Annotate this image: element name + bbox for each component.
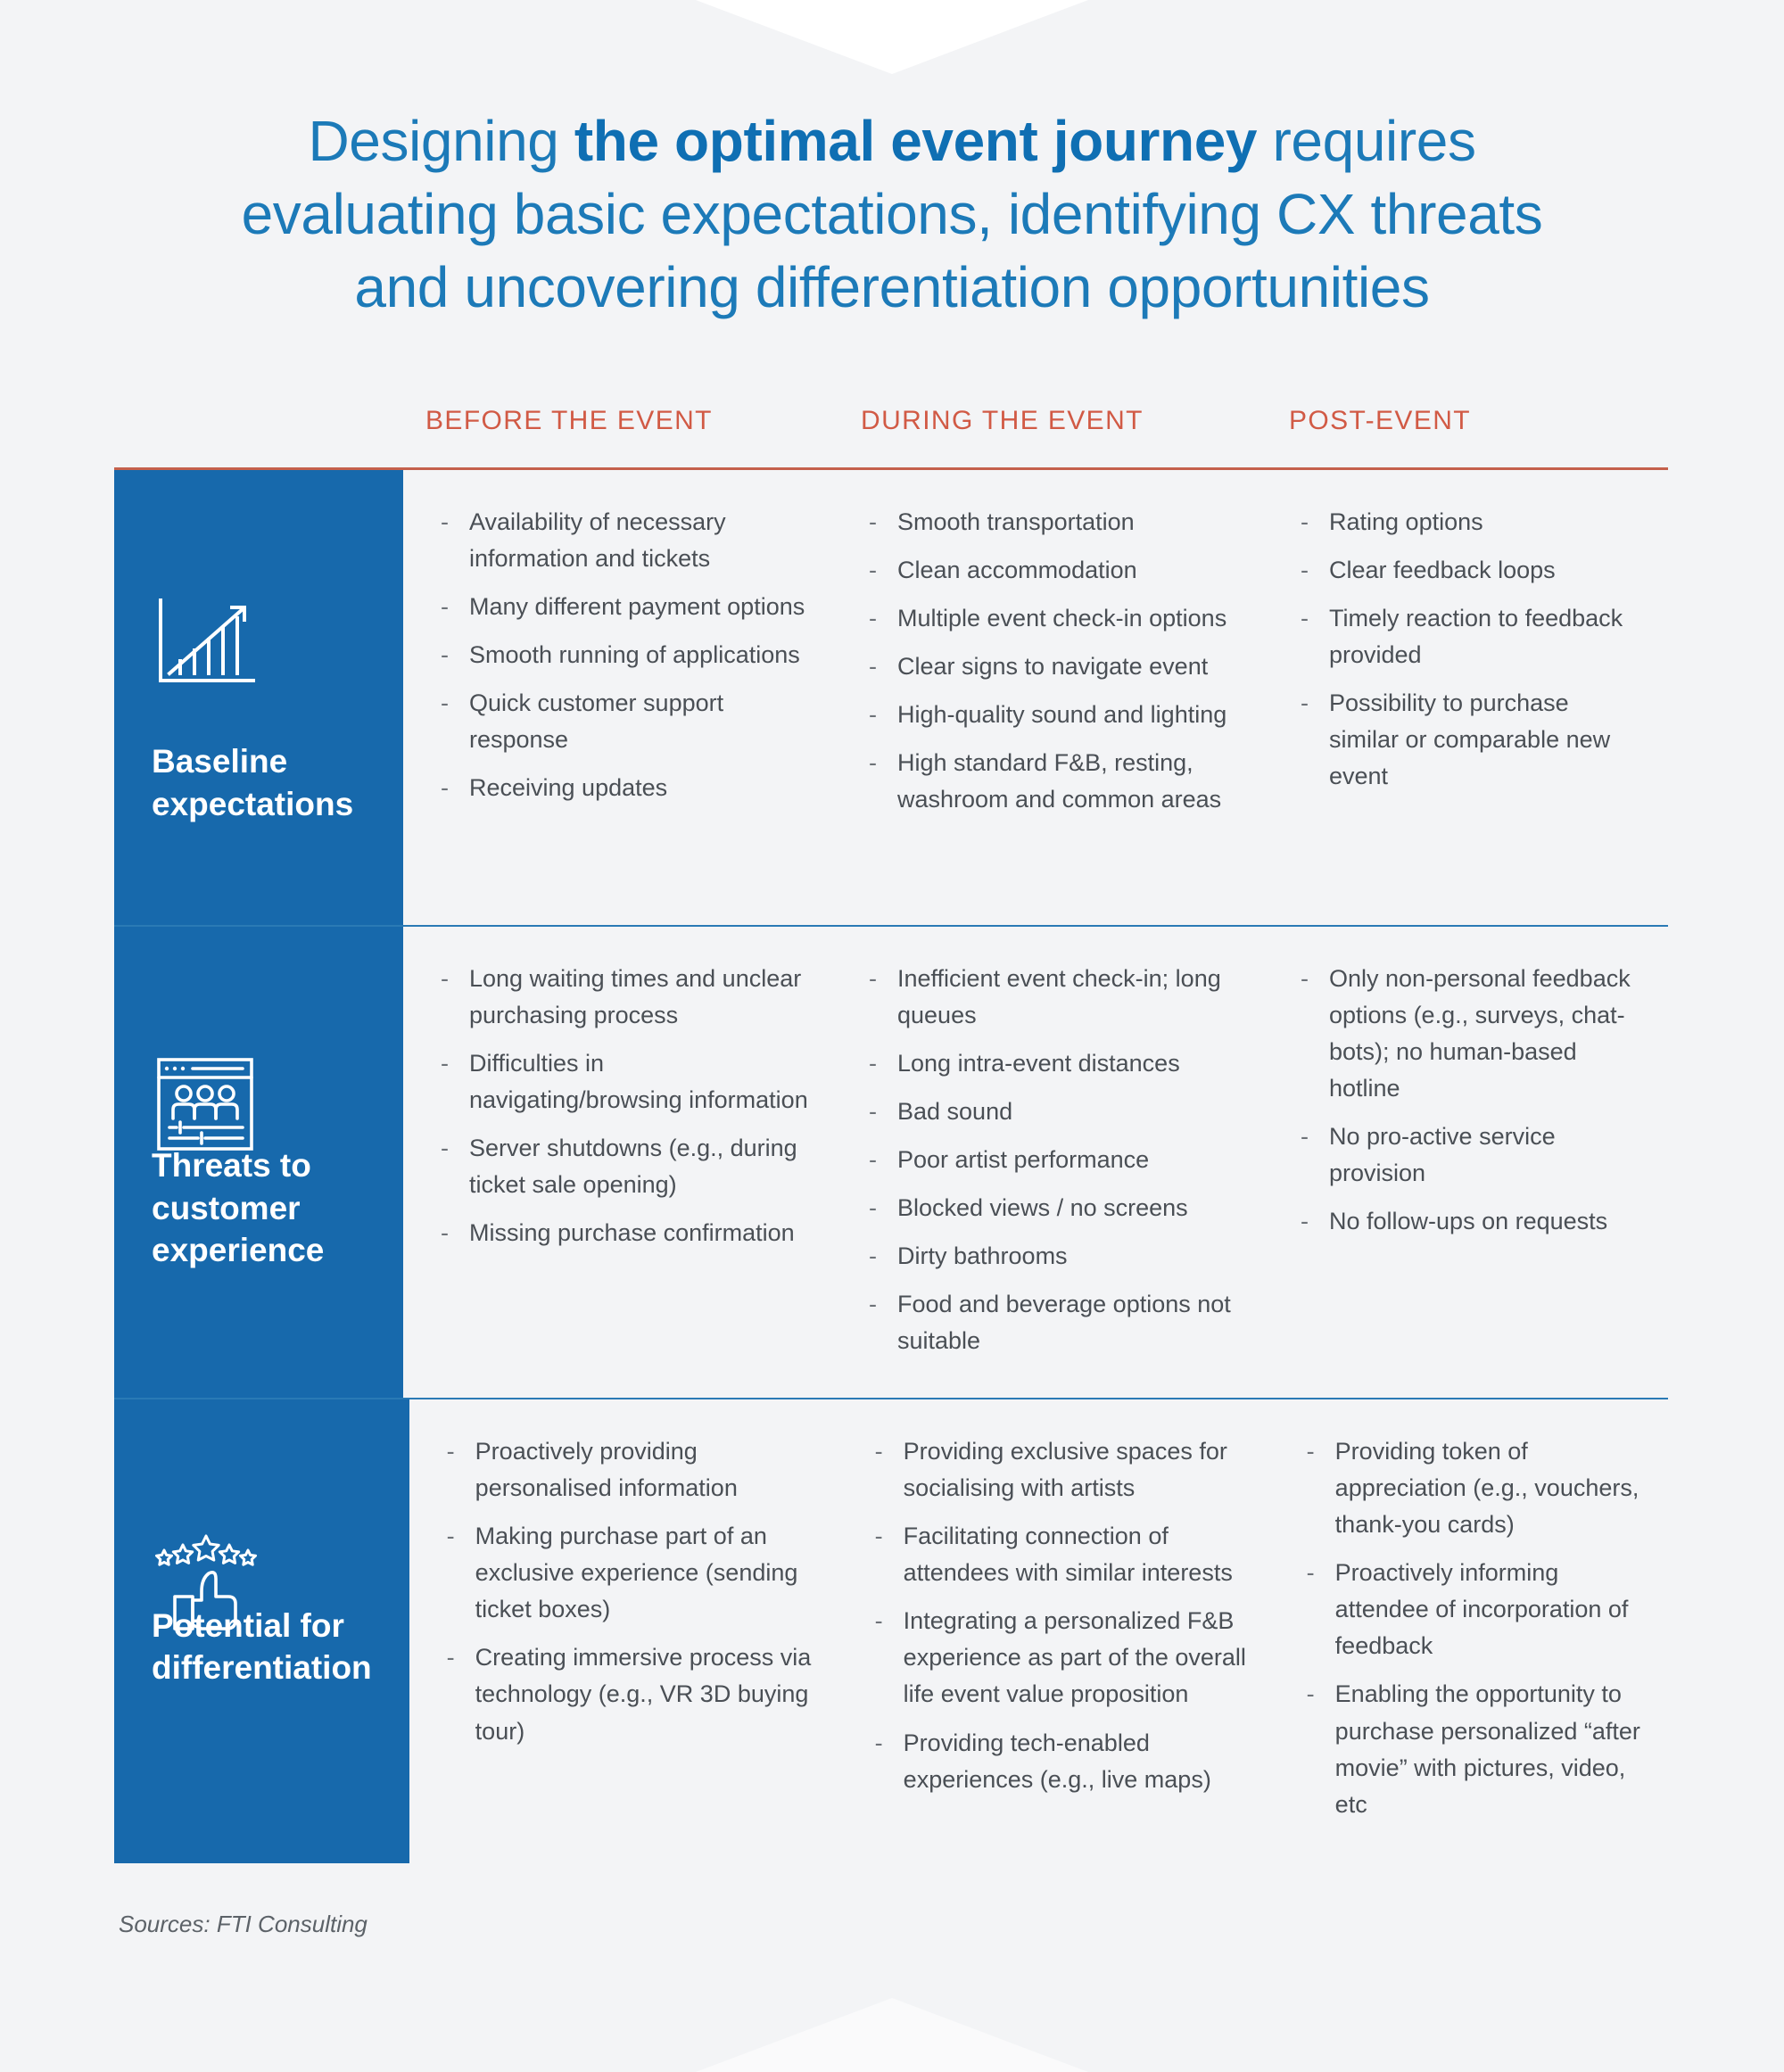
list-item: Possibility to purchase similar or compa… (1299, 685, 1645, 795)
list-item: High standard F&B, resting, washroom and… (867, 745, 1249, 818)
list-item: No follow-ups on requests (1299, 1203, 1645, 1240)
list-item: Making purchase part of an exclusive exp… (445, 1518, 825, 1628)
list-item: Clear feedback loops (1299, 552, 1645, 589)
bullet-list: Proactively providing personalised infor… (445, 1433, 825, 1749)
list-item: Creating immersive process via technolog… (445, 1639, 825, 1749)
list-item: Availability of necessary information an… (439, 504, 819, 577)
list-item: Providing exclusive spaces for socialisi… (873, 1433, 1255, 1507)
bullet-list: Providing exclusive spaces for socialisi… (873, 1433, 1255, 1797)
list-item: Many different payment options (439, 589, 819, 625)
cell-baseline-during: Smooth transportation Clean accommodatio… (842, 504, 1272, 898)
list-item: Smooth transportation (867, 504, 1249, 541)
list-item: Integrating a personalized F&B experienc… (873, 1603, 1255, 1713)
cell-threats-during: Inefficient event check-in; long queues … (842, 961, 1272, 1371)
list-item: Providing token of appreciation (e.g., v… (1305, 1433, 1645, 1543)
list-item: Long intra-event distances (867, 1045, 1249, 1082)
growth-chart-icon (153, 586, 287, 702)
row-content-differentiation: Proactively providing personalised infor… (409, 1399, 1668, 1863)
chevron-down-decoration-bottom (696, 1998, 1088, 2072)
list-item: Multiple event check-in options (867, 600, 1249, 637)
cell-threats-post: Only non-personal feedback options (e.g.… (1272, 961, 1668, 1371)
list-item: Facilitating connection of attendees wit… (873, 1518, 1255, 1591)
chevron-down-decoration-top (696, 0, 1088, 74)
category-cell-baseline: Baselineexpectations (114, 470, 403, 925)
list-item: Proactively providing personalised infor… (445, 1433, 825, 1507)
list-item: Rating options (1299, 504, 1645, 541)
bullet-list: Inefficient event check-in; long queues … (867, 961, 1249, 1359)
list-item: Long waiting times and unclear purchasin… (439, 961, 819, 1034)
title-emphasis: the optimal event journey (574, 109, 1257, 173)
row-content-baseline: Availability of necessary information an… (403, 470, 1668, 925)
list-item: Difficulties in navigating/browsing info… (439, 1045, 819, 1119)
list-item: Inefficient event check-in; long queues (867, 961, 1249, 1034)
list-item: Timely reaction to feedback provided (1299, 600, 1645, 673)
table-row: Potential fordifferentiation Proactively… (114, 1399, 1668, 1863)
list-item: Providing tech-enabled experiences (e.g.… (873, 1725, 1255, 1798)
title-tail: requires (1257, 109, 1475, 173)
column-header-during: DURING THE EVENT (861, 406, 1144, 436)
title-line-3: and uncovering differentiation opportuni… (354, 255, 1429, 319)
list-item: Server shutdowns (e.g., during ticket sa… (439, 1130, 819, 1203)
column-header-post: POST-EVENT (1289, 406, 1471, 436)
cell-differentiation-during: Providing exclusive spaces for socialisi… (848, 1433, 1278, 1837)
list-item: Dirty bathrooms (867, 1238, 1249, 1275)
list-item: Enabling the opportunity to purchase per… (1305, 1676, 1645, 1822)
column-headers: BEFORE THE EVENT DURING THE EVENT POST-E… (116, 406, 1668, 459)
list-item: No pro-active service provision (1299, 1119, 1645, 1192)
list-item: Smooth running of applications (439, 637, 819, 673)
page-title: Designing the optimal event journey requ… (196, 105, 1588, 325)
list-item: Only non-personal feedback options (e.g.… (1299, 961, 1645, 1107)
cell-baseline-before: Availability of necessary information an… (403, 504, 842, 898)
bullet-list: Smooth transportation Clean accommodatio… (867, 504, 1249, 818)
list-item: Blocked views / no screens (867, 1190, 1249, 1226)
category-label-baseline: Baselineexpectations (152, 740, 366, 825)
list-item: Poor artist performance (867, 1142, 1249, 1178)
cell-threats-before: Long waiting times and unclear purchasin… (403, 961, 842, 1371)
column-header-before: BEFORE THE EVENT (425, 406, 713, 436)
title-lead: Designing (308, 109, 574, 173)
bullet-list: Providing token of appreciation (e.g., v… (1305, 1433, 1645, 1822)
row-content-threats: Long waiting times and unclear purchasin… (403, 927, 1668, 1398)
list-item: Receiving updates (439, 770, 819, 806)
list-item: Clean accommodation (867, 552, 1249, 589)
category-label-threats: Threats tocustomerexperience (152, 1144, 366, 1271)
source-note: Sources: FTI Consulting (119, 1911, 368, 1938)
bullet-list: Rating options Clear feedback loops Time… (1299, 504, 1645, 795)
list-item: Missing purchase confirmation (439, 1215, 819, 1251)
bullet-list: Availability of necessary information an… (439, 504, 819, 806)
journey-matrix: Baselineexpectations Availability of nec… (114, 470, 1668, 1863)
category-cell-differentiation: Potential fordifferentiation (114, 1399, 409, 1863)
list-item: Bad sound (867, 1094, 1249, 1130)
category-cell-threats: Threats tocustomerexperience (114, 927, 403, 1398)
list-item: High-quality sound and lighting (867, 697, 1249, 733)
list-item: Quick customer support response (439, 685, 819, 758)
cell-differentiation-post: Providing token of appreciation (e.g., v… (1278, 1433, 1668, 1837)
cell-baseline-post: Rating options Clear feedback loops Time… (1272, 504, 1668, 898)
title-line-2: evaluating basic expectations, identifyi… (242, 182, 1543, 246)
table-row: Baselineexpectations Availability of nec… (114, 470, 1668, 927)
cell-differentiation-before: Proactively providing personalised infor… (409, 1433, 848, 1837)
bullet-list: Only non-personal feedback options (e.g.… (1299, 961, 1645, 1240)
infographic-page: Designing the optimal event journey requ… (0, 0, 1784, 2072)
category-label-differentiation: Potential fordifferentiation (152, 1605, 372, 1689)
list-item: Clear signs to navigate event (867, 648, 1249, 685)
list-item: Food and beverage options not suitable (867, 1286, 1249, 1359)
list-item: Proactively informing attendee of incorp… (1305, 1555, 1645, 1664)
bullet-list: Long waiting times and unclear purchasin… (439, 961, 819, 1251)
table-row: Threats tocustomerexperience Long waitin… (114, 927, 1668, 1399)
